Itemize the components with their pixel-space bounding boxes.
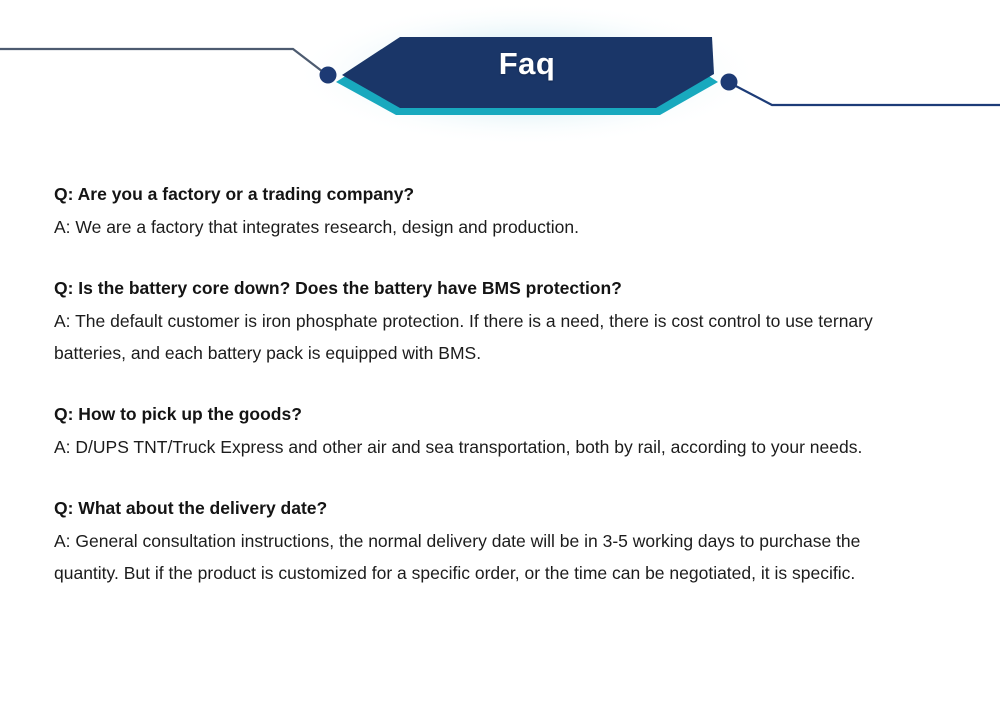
faq-item: Q: Are you a factory or a trading compan… — [54, 178, 934, 243]
faq-list: Q: Are you a factory or a trading compan… — [54, 178, 934, 589]
faq-answer: A: General consultation instructions, th… — [54, 525, 926, 589]
faq-item: Q: Is the battery core down? Does the ba… — [54, 272, 934, 369]
faq-item: Q: What about the delivery date? A: Gene… — [54, 492, 934, 589]
faq-answer: A: We are a factory that integrates rese… — [54, 211, 926, 243]
faq-question: Q: How to pick up the goods? — [54, 398, 934, 430]
faq-header-banner: Faq — [0, 0, 1000, 150]
faq-question: Q: What about the delivery date? — [54, 492, 934, 524]
left-connector-line — [0, 49, 327, 75]
right-connector-line — [730, 83, 1000, 105]
banner-graphic — [0, 0, 1000, 150]
faq-answer: A: The default customer is iron phosphat… — [54, 305, 926, 369]
faq-question: Q: Is the battery core down? Does the ba… — [54, 272, 934, 304]
right-connector-dot — [721, 74, 738, 91]
faq-answer: A: D/UPS TNT/Truck Express and other air… — [54, 431, 926, 463]
left-connector-dot — [320, 67, 337, 84]
banner-hexagon — [342, 37, 714, 108]
faq-item: Q: How to pick up the goods? A: D/UPS TN… — [54, 398, 934, 463]
faq-question: Q: Are you a factory or a trading compan… — [54, 178, 934, 210]
